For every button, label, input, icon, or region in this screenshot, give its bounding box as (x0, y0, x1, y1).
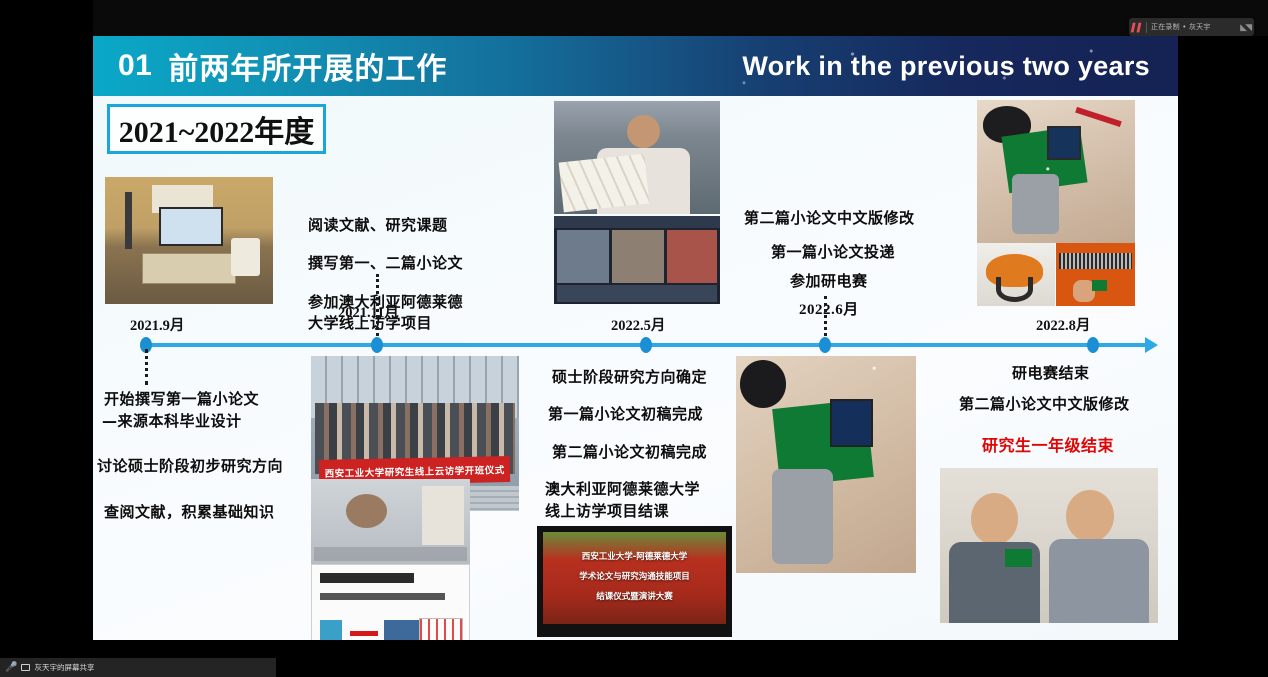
bottom-center-line-1: 硕士阶段研究方向确定 (552, 366, 707, 387)
group-ceremony-banner-text: 西安工业大学研究生线上云访学开班仪式 (325, 463, 505, 481)
bottom-right-line-1: 研电赛结束 (1012, 362, 1090, 383)
timeline-dot-3[interactable] (640, 337, 652, 353)
year-range-badge: 2021~2022年度 (107, 104, 326, 154)
record-icon[interactable]: ▌▌ (1132, 23, 1143, 32)
timeline-dot-5[interactable] (1087, 337, 1099, 353)
online-lecturer-photo (311, 479, 470, 564)
timeline-connector-4 (824, 296, 827, 336)
chevron-up-icon[interactable]: ◣◥ (1240, 22, 1250, 33)
bottom-left-line-1: 开始撰写第一篇小论文 (104, 388, 259, 409)
presentation-slide: 01 前两年所开展的工作 Work in the previous two ye… (93, 36, 1178, 640)
bottom-center-line-3: 第二篇小论文初稿完成 (552, 441, 707, 462)
top-right-line-1: 第二篇小论文中文版修改 (744, 207, 915, 228)
closing-ceremony-poster-photo: 西安工业大学-阿德莱德大学 学术论文与研究沟通技能项目 结课仪式暨演讲大赛 (537, 526, 732, 637)
top-left-line-2: 撰写第一、二篇小论文 (308, 252, 463, 273)
orange-helmet-photo (977, 243, 1055, 306)
top-right-line-4: 2022.6月 (799, 298, 859, 319)
wrist-wearable-device-photo (977, 100, 1135, 243)
meeting-floating-toolbar[interactable]: ▌▌ 正在录制 • 灰天宇 ◣◥ (1129, 18, 1254, 36)
bottom-right-line-3: 研究生一年级结束 (982, 432, 1114, 456)
slide-title-english: Work in the previous two years (742, 51, 1150, 82)
bottom-right-line-2: 第二篇小论文中文版修改 (959, 393, 1130, 414)
bottom-center-line-5: 线上访学项目结课 (545, 500, 669, 521)
timeline-dot-2[interactable] (371, 337, 383, 353)
timeline-label-1: 2021.9月 (130, 314, 184, 335)
top-right-line-2: 第一篇小论文投递 (771, 241, 895, 262)
screen-share-status-bar[interactable]: 🎤 灰天宇的屏幕共享 (0, 658, 276, 677)
bottom-left-line-4: 查阅文献，积累基础知识 (104, 501, 275, 522)
lecture-slide-photo (311, 564, 470, 640)
slide-header: 01 前两年所开展的工作 Work in the previous two ye… (93, 36, 1178, 96)
toolbar-divider (1146, 22, 1147, 33)
bottom-left-line-3: 讨论硕士阶段初步研究方向 (97, 455, 283, 476)
meeting-left-letterbox (0, 0, 93, 677)
top-left-line-1: 阅读文献、研究课题 (308, 214, 448, 235)
timeline-arrow-icon (1145, 337, 1158, 353)
timeline-connector-2 (376, 274, 379, 336)
bottom-left-line-2: —来源本科毕业设计 (102, 410, 242, 431)
screen-share-window: ▌▌ 正在录制 • 灰天宇 ◣◥ 🎤 灰天宇的屏幕共享 01 前两年所开展的工作… (0, 0, 1268, 677)
two-students-photo (940, 468, 1158, 623)
poster-line-3: 结课仪式暨演讲大赛 (537, 590, 732, 602)
online-meeting-photo (554, 216, 720, 304)
screen-share-icon[interactable] (21, 664, 30, 671)
meeting-top-bar (0, 0, 1268, 36)
poster-line-1: 西安工业大学-阿德莱德大学 (537, 550, 732, 562)
led-safety-vest-photo (1056, 243, 1135, 306)
slide-title-chinese: 前两年所开展的工作 (168, 44, 447, 88)
screen-share-label: 灰天宇的屏幕共享 (34, 662, 94, 673)
timeline-connector-1 (145, 349, 148, 385)
timeline-label-2: 2021.11月 (338, 301, 399, 322)
timeline-label-5: 2022.8月 (1036, 314, 1090, 335)
poster-line-2: 学术论文与研究沟通技能项目 (537, 570, 732, 582)
wrist-wearable-device-photo-2 (736, 356, 916, 573)
year-range-label: 2021~2022年度 (119, 107, 315, 151)
timeline-dot-4[interactable] (819, 337, 831, 353)
person-holding-documents-photo (554, 101, 720, 214)
bottom-center-line-4: 澳大利亚阿德莱德大学 (545, 478, 700, 499)
desk-study-photo (105, 177, 273, 304)
top-right-line-3: 参加研电赛 (790, 270, 868, 291)
recording-status-label: 正在录制 • 灰天宇 (1151, 22, 1211, 32)
timeline-label-3: 2022.5月 (611, 314, 665, 335)
slide-section-number: 01 (118, 49, 152, 83)
microphone-icon[interactable]: 🎤 (5, 663, 17, 673)
bottom-center-line-2: 第一篇小论文初稿完成 (548, 403, 703, 424)
